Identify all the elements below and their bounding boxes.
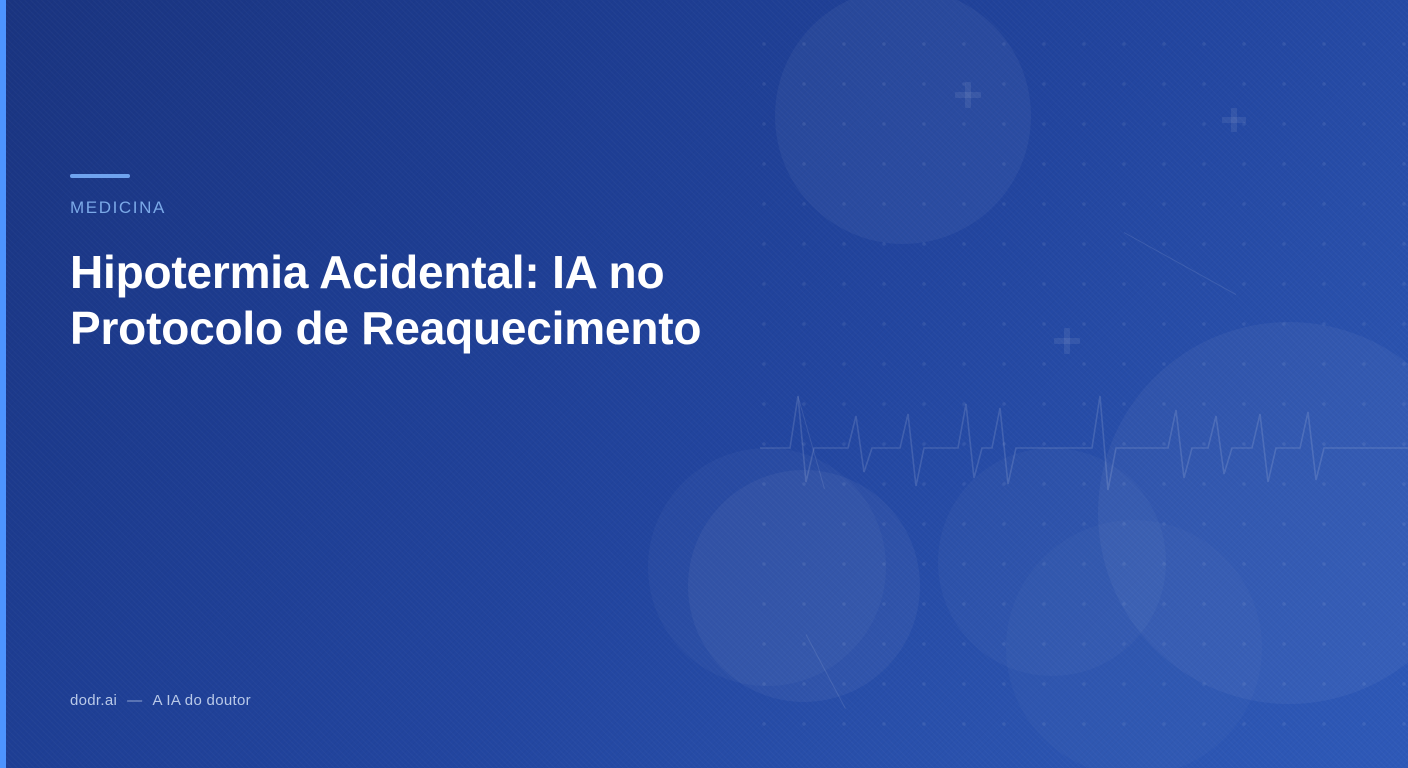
decor-circle-top [775,0,1031,244]
slide-content: MEDICINA Hipotermia Acidental: IA no Pro… [70,0,701,387]
plus-icon [1054,328,1080,354]
page-title-line-2: Protocolo de Reaquecimento [70,300,701,356]
ecg-waveform-icon [760,386,1408,498]
decor-diagonal-line [1124,232,1236,295]
plus-icon [1222,108,1246,132]
left-edge-accent-bar [0,0,6,768]
page-title: Hipotermia Acidental: IA no Protocolo de… [70,244,701,356]
category-label: MEDICINA [70,198,701,218]
presentation-slide: MEDICINA Hipotermia Acidental: IA no Pro… [0,0,1408,768]
slide-footer: dodr.ai — A IA do doutor [70,692,251,709]
plus-icon [955,82,981,108]
decor-circle-bottom-left-inner [688,470,920,702]
kicker-accent-rule [70,174,130,178]
footer-tagline: A IA do doutor [152,692,250,709]
footer-brand: dodr.ai [70,692,117,709]
footer-separator: — [127,692,142,709]
decor-circle-right-inner [1006,520,1262,768]
page-title-line-1: Hipotermia Acidental: IA no [70,244,701,300]
